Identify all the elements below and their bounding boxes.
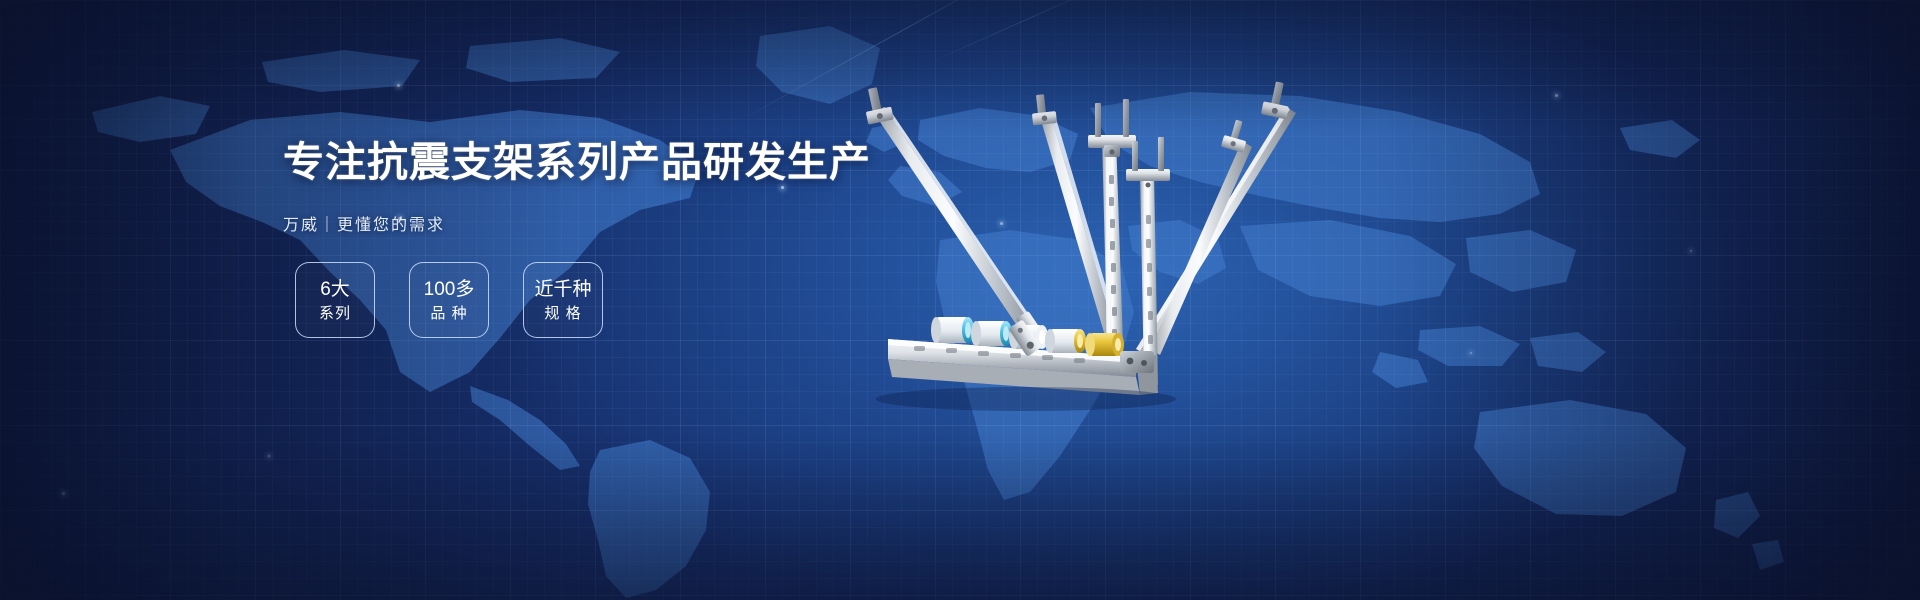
stat-badge-varieties[interactable]: 100多 品 种 [409, 262, 489, 338]
stat-badge-series[interactable]: 6大 系列 [295, 262, 375, 338]
stat-badge-label: 品 种 [430, 306, 467, 321]
stat-badge-value: 近千种 [534, 280, 591, 299]
stat-badge-value: 100多 [424, 280, 475, 299]
stat-badge-label: 规 格 [544, 306, 581, 321]
stat-badge-specifications[interactable]: 近千种 规 格 [523, 262, 603, 338]
banner-copy: 专注抗震支架系列产品研发生产 万威｜更懂您的需求 [283, 140, 843, 235]
stat-badge-label: 系列 [319, 306, 351, 321]
product-image [840, 55, 1320, 415]
hero-banner: 专注抗震支架系列产品研发生产 万威｜更懂您的需求 6大 系列 100多 品 种 … [0, 0, 1920, 600]
stat-badge-list: 6大 系列 100多 品 种 近千种 规 格 [295, 262, 603, 338]
banner-subtitle: 万威｜更懂您的需求 [283, 211, 843, 235]
stat-badge-value: 6大 [320, 280, 350, 299]
page-title: 专注抗震支架系列产品研发生产 [283, 140, 843, 185]
